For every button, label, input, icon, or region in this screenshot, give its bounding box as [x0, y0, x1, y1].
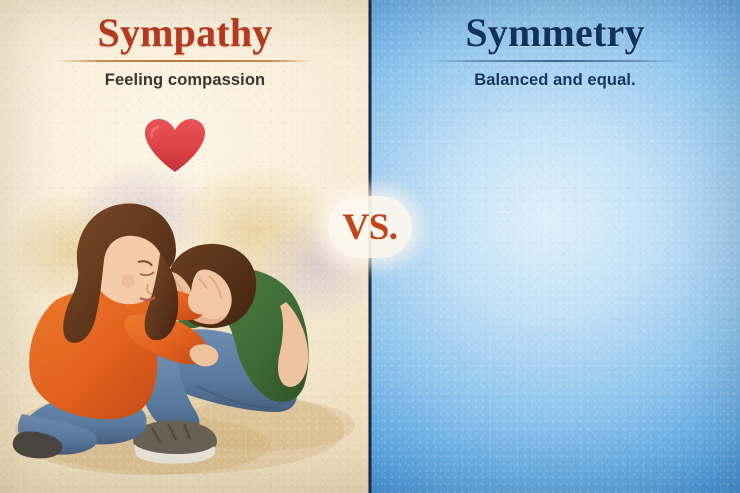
versus-label: VS. [342, 209, 397, 246]
versus-badge: VS. [328, 196, 412, 258]
heart-icon [144, 118, 206, 174]
right-panel-symmetry: Symmetry Balanced and equal. [370, 0, 740, 493]
right-title-rule [426, 60, 684, 62]
right-subtitle: Balanced and equal. [370, 71, 740, 90]
right-heading-block: Symmetry Balanced and equal. [370, 0, 740, 90]
left-subtitle: Feeling compassion [0, 71, 370, 90]
illustration-woman-comforting-man [0, 150, 370, 493]
left-heading-block: Sympathy Feeling compassion [0, 0, 370, 90]
page-title-right: Symmetry [370, 12, 740, 54]
page-title-left: Sympathy [0, 12, 370, 54]
comparison-infographic: Sympathy Feeling compassion [0, 0, 740, 493]
left-panel-sympathy: Sympathy Feeling compassion [0, 0, 370, 493]
left-title-rule [56, 60, 314, 62]
